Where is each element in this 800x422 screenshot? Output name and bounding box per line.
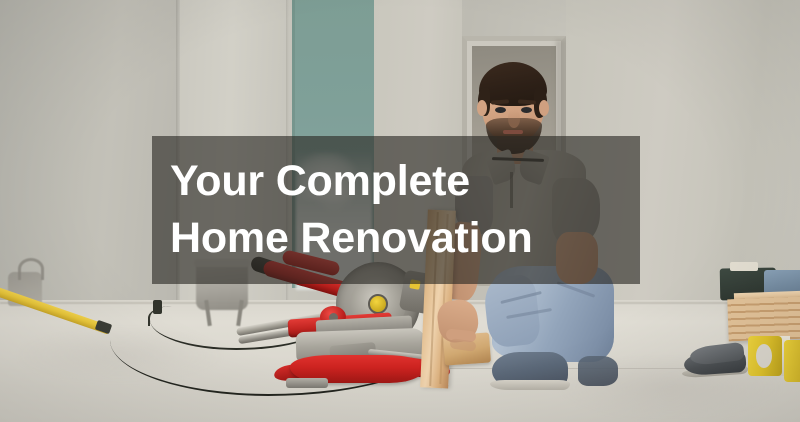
headline-line-2: Home Renovation [170,210,640,267]
saw-foot-stand [286,378,328,388]
tape-roll-core [756,344,772,368]
equipment-hose [18,258,44,280]
man-nose [508,110,520,128]
man-eye-left [495,107,506,113]
man-shoe-back [578,356,618,386]
yellow-tape-roll-2 [784,340,800,382]
man-mouth [503,130,523,134]
man-ear-right [539,100,549,116]
man-eye-right [521,107,532,113]
headline-line-1: Your Complete [170,153,640,210]
tool-case-label [730,262,758,271]
stacked-wood-planks [727,297,800,342]
renovation-banner: Your Complete Home Renovation [0,0,800,422]
headline-overlay: Your Complete Home Renovation [152,136,640,284]
man-shoe-sole [490,380,570,390]
power-cord-plug [153,300,162,314]
saw-blade-hub [368,294,388,314]
man-ear-left [477,100,487,116]
